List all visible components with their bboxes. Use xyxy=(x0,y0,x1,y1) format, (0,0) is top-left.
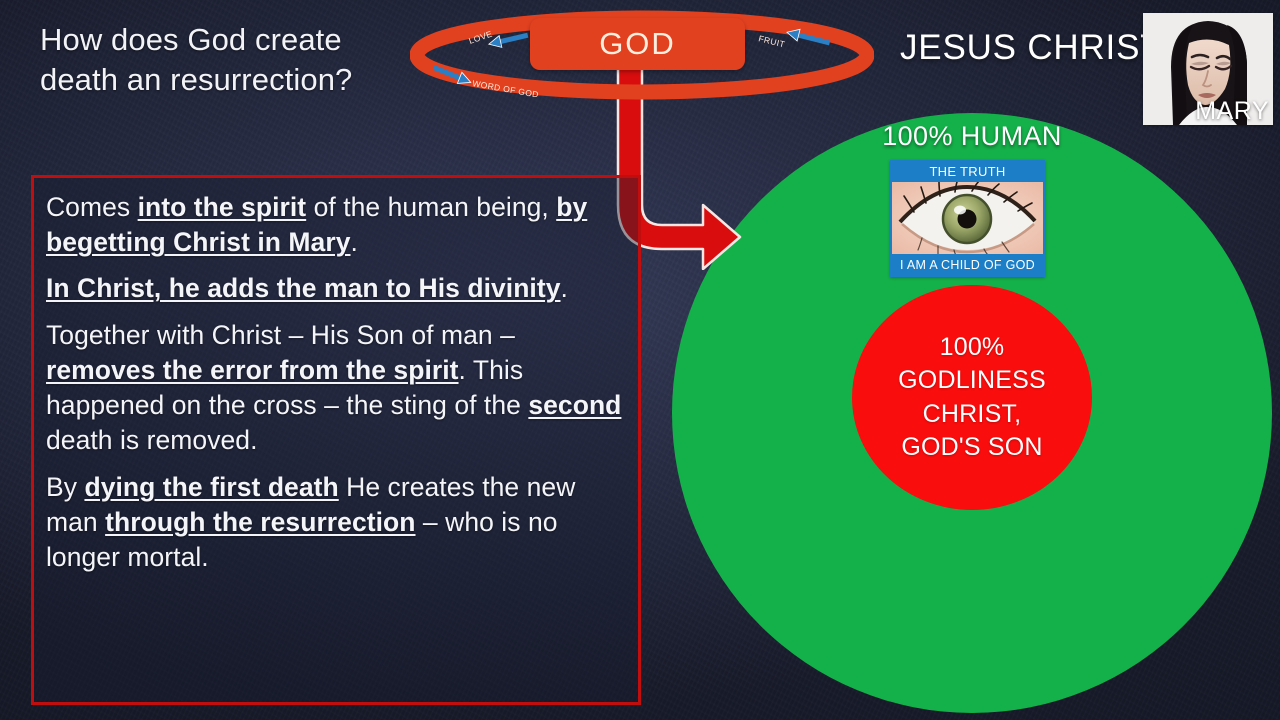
emphasis-text: removes the error from the spirit xyxy=(46,355,459,385)
godliness-line-2: GODLINESS xyxy=(898,364,1046,398)
emphasis-text: dying the first death xyxy=(84,472,338,502)
body-text: . xyxy=(561,273,568,303)
body-text: Together with Christ – His Son of man – xyxy=(46,320,515,350)
page-title: How does God create death an resurrectio… xyxy=(40,20,440,101)
mary-photo: MARY xyxy=(1143,13,1273,125)
body-text: death is removed. xyxy=(46,425,258,455)
body-text: By xyxy=(46,472,84,502)
mary-caption: MARY xyxy=(1195,97,1269,125)
eye-image xyxy=(892,182,1043,254)
god-ring-diagram: LOVE FRUIT WORD OF GOD GOD xyxy=(410,8,874,108)
explanation-textbox: Comes into the spirit of the human being… xyxy=(31,175,641,705)
godliness-line-1: 100% xyxy=(940,331,1005,365)
body-text: Comes xyxy=(46,192,138,222)
truth-card: THE TRUTH xyxy=(890,160,1045,277)
truth-card-bottom-label: I AM A CHILD OF GOD xyxy=(890,255,1045,276)
ring-label-fruit: FRUIT xyxy=(758,33,787,49)
truth-card-top-label: THE TRUTH xyxy=(890,161,1045,182)
question-line-2: death an resurrection? xyxy=(40,60,440,100)
slide-canvas: How does God create death an resurrectio… xyxy=(0,0,1280,720)
textbox-paragraph: By dying the first death He creates the … xyxy=(46,470,622,576)
emphasis-text: through the resurrection xyxy=(105,507,415,537)
emphasis-text: In Christ, he adds the man to His divini… xyxy=(46,273,561,303)
textbox-paragraph: In Christ, he adds the man to His divini… xyxy=(46,271,622,306)
body-text: . xyxy=(351,227,358,257)
textbox-paragraph: Comes into the spirit of the human being… xyxy=(46,190,622,260)
god-label-text: GOD xyxy=(530,18,745,70)
jesus-christ-title: JESUS CHRIST xyxy=(900,28,1162,68)
godliness-circle: 100% GODLINESS CHRIST, GOD'S SON xyxy=(852,285,1092,510)
godliness-line-4: GOD'S SON xyxy=(901,431,1042,465)
question-line-1: How does God create xyxy=(40,20,440,60)
emphasis-text: second xyxy=(528,390,621,420)
eye-illustration xyxy=(892,182,1043,254)
godliness-line-3: CHRIST, xyxy=(923,398,1022,432)
god-label-box: GOD xyxy=(530,18,745,70)
textbox-paragraph: Together with Christ – His Son of man – … xyxy=(46,318,622,459)
emphasis-text: into the spirit xyxy=(138,192,307,222)
body-text: of the human being, xyxy=(306,192,556,222)
